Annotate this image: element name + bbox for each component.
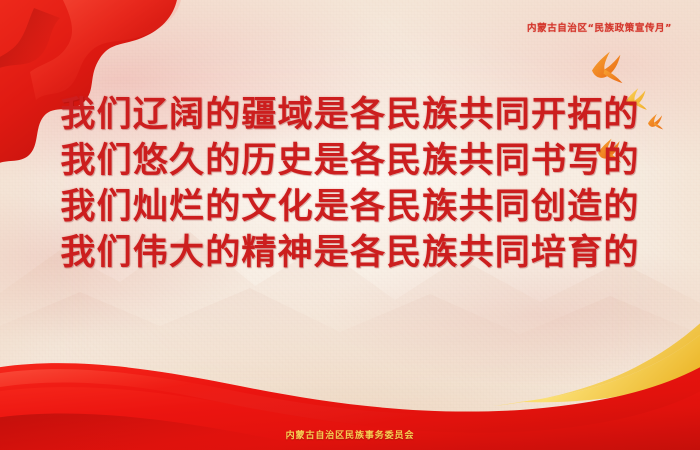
footer-issuing-authority: 内蒙古自治区民族事务委员会 <box>0 432 700 441</box>
slogan-block: 我们辽阔的疆域是各民族共同开拓的 我们悠久的历史是各民族共同书写的 我们灿烂的文… <box>0 98 700 271</box>
slogan-line-4: 我们伟大的精神是各民族共同培育的 <box>60 236 639 271</box>
gold-ribbon-curve <box>520 330 700 402</box>
header-campaign-tag: 内蒙古自治区“民族政策宣传月” <box>527 24 672 34</box>
slogan-line-2: 我们悠久的历史是各民族共同书写的 <box>60 144 639 179</box>
bird-icon <box>592 52 622 84</box>
slogan-line-3: 我们灿烂的文化是各民族共同创造的 <box>60 190 639 225</box>
poster-canvas: 内蒙古自治区“民族政策宣传月” 我们辽阔的疆域是各民族共同开拓的 我们悠久的历史… <box>0 0 700 450</box>
slogan-line-1: 我们辽阔的疆域是各民族共同开拓的 <box>60 98 639 133</box>
